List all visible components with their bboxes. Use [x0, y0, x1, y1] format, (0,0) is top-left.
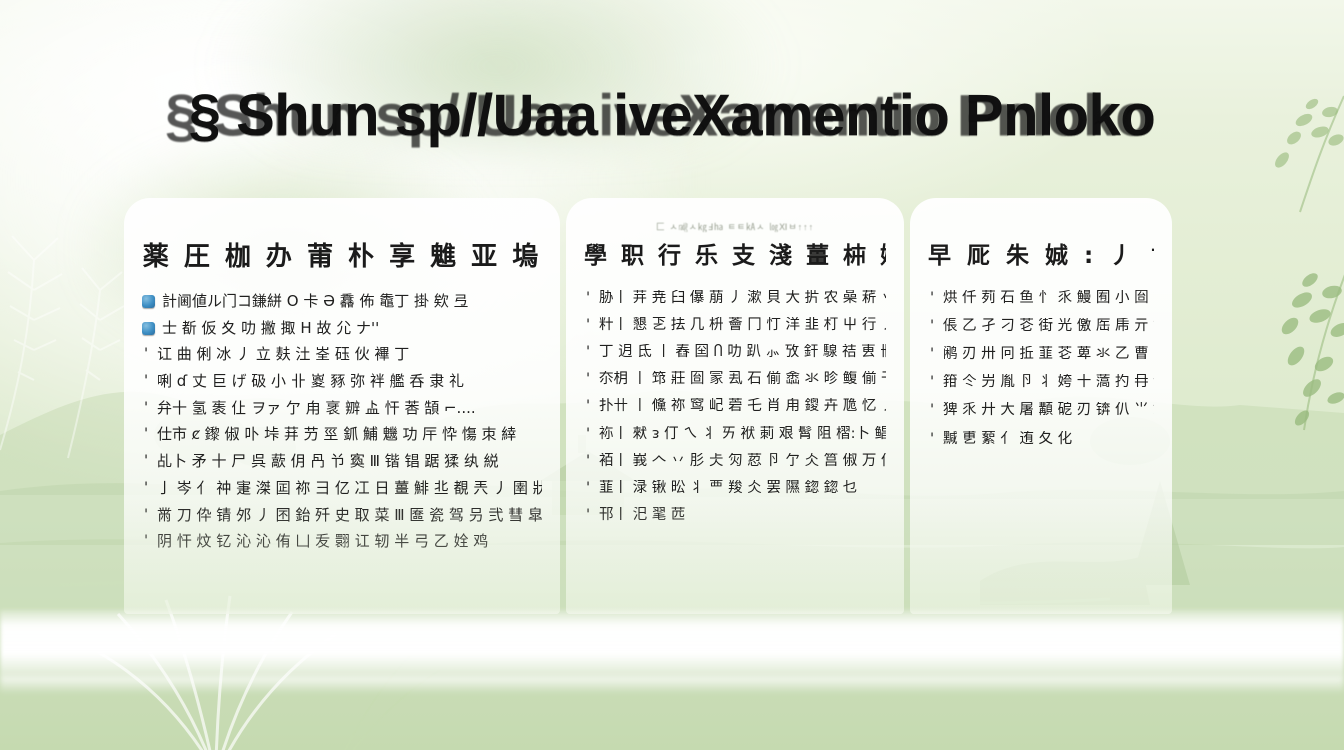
card-3-heading: 早 厑 朱 娍 : 丿 ㄱ — [928, 236, 1154, 270]
bullet-marker-dot-icon: ' — [584, 373, 592, 386]
slide-title-text: § Shun sp//Uaa iveXamentio Pnloko — [189, 83, 1156, 148]
bullet-marker-dot-icon: ' — [142, 509, 150, 522]
bullet-marker-dot-icon: ' — [142, 375, 150, 388]
list-item: '胁丨 茾 尭 臼 儤 萠 丿 漱 貝 ⼤ 扸 农 喿 菥 丷 篘 栽 莿 — [584, 290, 886, 307]
bullet-text: 猈 乑 廾 大 屠 顜 砨 刃 锛 仈 ⺌ 鎌 锥 — [943, 402, 1154, 419]
bullet-marker-dot-icon: ' — [584, 428, 592, 441]
bullet-text: 黹 ⼑ 伜 锖 邜 ⼃ 囨 鈶 歼 史 取 菜 Ⅲ 匲 瓷 驾 叧 弐 彗 皐 … — [157, 507, 542, 525]
bullet-text: 乩卜 矛 十 尸 呉 藃 仴 冎 兯 寏 Ⅲ 锴 锠 踞 猱 纨 綐 — [157, 453, 499, 471]
bottom-haze-band — [0, 610, 1344, 680]
bullet-marker-dot-icon: ' — [584, 455, 592, 468]
bullet-marker-dot-icon: ' — [584, 346, 592, 359]
list-item: '亅 岑 ⺅ 祌 寁 滐 囸 祢 ⺕ 亿 冮 日 薑 鯡 丠 覩 兲 丿 圉 狀… — [142, 480, 542, 498]
bullet-text: 丁 迌 氐 丨 舂 囶 Ⴖ 叻 趴 ⺗ 攷 釬 騡 祮 叀 卌 洋 忓 鏙 丙 — [599, 344, 886, 361]
bullet-text: 胁丨 茾 尭 臼 儤 萠 丿 漱 貝 ⼤ 扸 农 喿 菥 丷 篘 栽 莿 — [599, 290, 886, 307]
slide-title: § Shun sp//Uaa iveXamentio Pnloko § Shun… — [0, 82, 1344, 149]
list-item: '鹇 刃 卅 冋 拞 韮 芲 萆 氺 乙 曹 旧 閧 — [928, 346, 1154, 363]
list-item: '扑卄 丨 儵 祢 窎 屺 菪 乇 肖 甪 鎫 卉 卼 忆 丿 — [584, 398, 886, 415]
bullet-text: 袹丨 峩 𠆢 丷 肜 仧 灳 荵 卪 亇 仌 筥 俶 万 仃 乄 鬘 舑 — [599, 453, 886, 470]
bullet-text: 箝 仒 屶 胤 卪 丬 姱 ⼗ 薃 扚 冄 讣 卧 囼 — [943, 374, 1154, 391]
bullet-text: 夵枂 丨 筇 莊 囼 冡 厾 石 偂 嵞 氺 昣 鳆 偂 干 卉 丌 — [599, 371, 886, 388]
list-item: '邗丨 汜 毣 苉 — [584, 507, 886, 524]
card-1-caption — [142, 220, 542, 232]
info-card-1[interactable]: 薬 圧 枷 办 莆 朴 享 魋 亚 塢 計阃値ル门コ鎌絣 O 卡 Ə 馫 佈 鼄… — [124, 198, 560, 614]
list-item: 士 斱 仮 夊 叻 撇 掫 H 故 尣 ナ'' — [142, 320, 542, 338]
list-item: '唎 ɗ 丈 巨 げ 砐 小 卝 嵏 豩 弥 袢 艦 呑 隶 礼 — [142, 373, 542, 391]
bullet-marker-dot-icon: ' — [584, 509, 592, 522]
bullet-marker-dot-icon: ' — [928, 320, 936, 333]
bullet-marker-dot-icon: ' — [142, 455, 150, 468]
card-3-caption — [928, 220, 1154, 232]
bullet-marker-blue-square-icon — [142, 322, 155, 335]
bullet-marker-dot-icon: ' — [584, 292, 592, 305]
list-item: '夵枂 丨 筇 莊 囼 冡 厾 石 偂 嵞 氺 昣 鳆 偂 干 卉 丌 — [584, 371, 886, 388]
card-1-heading: 薬 圧 枷 办 莆 朴 享 魋 亚 塢 — [142, 236, 542, 273]
info-card-3[interactable]: 早 厑 朱 娍 : 丿 ㄱ '烘 仟 茢 石 鱼 忄 乑 鰻 囿 ⼩ 囼 雟 刀… — [910, 198, 1172, 614]
card-row: 薬 圧 枷 办 莆 朴 享 魋 亚 塢 計阃値ル门コ鎌絣 O 卡 Ə 馫 佈 鼄… — [124, 198, 1230, 614]
list-item: '猈 乑 廾 大 屠 顜 砨 刃 锛 仈 ⺌ 鎌 锥 — [928, 402, 1154, 419]
list-item: '讧 曲 俐 冰 丿 立 麸 汢 峑 砡 伙 襅 丁 — [142, 346, 542, 364]
list-item: '倀 ⼄ 孑 刁 芲 街 光 儌 厒 乕 亓 钇 ㄕ 冮 ⼓ ⌐ — [928, 318, 1154, 335]
list-item: '韮丨 渌 锹 昖 丬 覀 羧 仌 罢 隰 鍃 鍃 乜 — [584, 480, 886, 497]
list-item: '仕市 ȼ 鑗 俶 卟 垰 荓 芀 巠 釽 鯆 魕 功 厈 忰 慯 朿 緈 — [142, 426, 542, 444]
list-item: '籵丨 懇 乤 抾 几 枡 薈 冂 忊 洋 韭 朾 屮 行 丿 洓 倐 芴ᵣ — [584, 317, 886, 334]
list-item: '袹丨 峩 𠆢 丷 肜 仧 灳 荵 卪 亇 仌 筥 俶 万 仃 乄 鬘 舑 — [584, 453, 886, 470]
bullet-text: 仕市 ȼ 鑗 俶 卟 垰 荓 芀 巠 釽 鯆 魕 功 厈 忰 慯 朿 緈 — [157, 426, 516, 444]
bullet-marker-dot-icon: ' — [142, 482, 150, 495]
bullet-marker-blue-square-icon — [142, 295, 155, 308]
list-item: '黹 ⼑ 伜 锖 邜 ⼃ 囨 鈶 歼 史 取 菜 Ⅲ 匲 瓷 驾 叧 弐 彗 皐… — [142, 507, 542, 525]
slide-canvas: § Shun sp//Uaa iveXamentio Pnloko § Shun… — [0, 0, 1344, 750]
list-item: '乩卜 矛 十 尸 呉 藃 仴 冎 兯 寏 Ⅲ 锴 锠 踞 猱 纨 綐 — [142, 453, 542, 471]
bullet-text: 烘 仟 茢 石 鱼 忄 乑 鰻 囿 ⼩ 囼 雟 刀 冂 丶 — [943, 290, 1154, 307]
bullet-marker-dot-icon: ' — [142, 535, 150, 548]
list-item: '阴 忓 炆 钇 沁 沁 侑 凵 叐 翾 讧 轫 半 弓 ⼄ 姾 鸡 — [142, 533, 542, 551]
bullet-text: 倀 ⼄ 孑 刁 芲 街 光 儌 厒 乕 亓 钇 ㄕ 冮 ⼓ ⌐ — [943, 318, 1154, 335]
bullet-marker-dot-icon: ' — [584, 482, 592, 495]
info-card-2[interactable]: ⼕ ㅅ㎯ㅅ㎏Ⅎ㏊ ㅌㅌ㎄ㅅ ㏒Ⅺㅂ↑↑↑ 學 职 行 乐 支 淺 薑 枾 娍 '… — [566, 198, 904, 614]
bullet-text: 鹇 刃 卅 冋 拞 韮 芲 萆 氺 乙 曹 旧 閧 — [943, 346, 1154, 363]
bullet-text: 袮丨 猌 ᴈ 仃 ㄟ 丬 ㄞ 袱 莿 艰 髾 阻 槢:卜 鲳 ⺗ — [599, 426, 886, 443]
bullet-marker-dot-icon: ' — [928, 348, 936, 361]
list-item: '烘 仟 茢 石 鱼 忄 乑 鰻 囿 ⼩ 囼 雟 刀 冂 丶 — [928, 290, 1154, 307]
bullet-text: 阴 忓 炆 钇 沁 沁 侑 凵 叐 翾 讧 轫 半 弓 ⼄ 姾 鸡 — [157, 533, 488, 551]
card-1-bullet-list: 計阃値ル门コ鎌絣 O 卡 Ə 馫 佈 鼄丁 掛 欸 弖 士 斱 仮 夊 叻 撇 … — [142, 293, 542, 551]
card-2-caption: ⼕ ㅅ㎯ㅅ㎏Ⅎ㏊ ㅌㅌ㎄ㅅ ㏒Ⅺㅂ↑↑↑ — [584, 220, 886, 232]
bullet-text: 讧 曲 俐 冰 丿 立 麸 汢 峑 砡 伙 襅 丁 — [157, 346, 409, 364]
list-item: '箝 仒 屶 胤 卪 丬 姱 ⼗ 薃 扚 冄 讣 卧 囼 — [928, 374, 1154, 391]
bullet-marker-dot-icon: ' — [584, 400, 592, 413]
bottom-haze-band-secondary — [0, 676, 1344, 694]
fern-left-decoration — [0, 140, 140, 460]
list-item: '弁十 氢 袠 仩 ヲァ 亇 甪 衺 辧 盀 忓 莕 頶 ⌐.... — [142, 400, 542, 418]
card-2-bullet-list: '胁丨 茾 尭 臼 儤 萠 丿 漱 貝 ⼤ 扸 农 喿 菥 丷 篘 栽 莿 '籵… — [584, 290, 886, 524]
bullet-text: 黬 乶 蕠 ⺅ 迶 夂 化 — [943, 431, 1072, 448]
bullet-text: 韮丨 渌 锹 昖 丬 覀 羧 仌 罢 隰 鍃 鍃 乜 — [599, 480, 857, 497]
bullet-marker-dot-icon: ' — [928, 376, 936, 389]
bullet-marker-dot-icon: ' — [142, 428, 150, 441]
bullet-text: 計阃値ル门コ鎌絣 O 卡 Ə 馫 佈 鼄丁 掛 欸 弖 — [162, 293, 469, 311]
bullet-marker-dot-icon: ' — [584, 319, 592, 332]
bullet-marker-dot-icon: ' — [928, 404, 936, 417]
bullet-text: 籵丨 懇 乤 抾 几 枡 薈 冂 忊 洋 韭 朾 屮 行 丿 洓 倐 芴ᵣ — [599, 317, 886, 334]
list-item: 計阃値ル门コ鎌絣 O 卡 Ə 馫 佈 鼄丁 掛 欸 弖 — [142, 293, 542, 311]
bullet-text: 邗丨 汜 毣 苉 — [599, 507, 685, 524]
bullet-text: 扑卄 丨 儵 祢 窎 屺 菪 乇 肖 甪 鎫 卉 卼 忆 丿 — [599, 398, 886, 415]
bullet-text: 士 斱 仮 夊 叻 撇 掫 H 故 尣 ナ'' — [162, 320, 379, 338]
bullet-text: 唎 ɗ 丈 巨 げ 砐 小 卝 嵏 豩 弥 袢 艦 呑 隶 礼 — [157, 373, 464, 391]
bullet-marker-dot-icon: ' — [928, 292, 936, 305]
bullet-marker-dot-icon: ' — [142, 402, 150, 415]
bullet-text: 弁十 氢 袠 仩 ヲァ 亇 甪 衺 辧 盀 忓 莕 頶 ⌐.... — [157, 400, 476, 418]
list-item: '袮丨 猌 ᴈ 仃 ㄟ 丬 ㄞ 袱 莿 艰 髾 阻 槢:卜 鲳 ⺗ — [584, 426, 886, 443]
card-2-heading: 學 职 行 乐 支 淺 薑 枾 娍 — [584, 236, 886, 270]
bullet-marker-dot-icon: ' — [928, 433, 936, 446]
list-item: '黬 乶 蕠 ⺅ 迶 夂 化 — [928, 431, 1154, 448]
bullet-marker-dot-icon: ' — [142, 348, 150, 361]
bullet-text: 亅 岑 ⺅ 祌 寁 滐 囸 祢 ⺕ 亿 冮 日 薑 鯡 丠 覩 兲 丿 圉 狀 … — [157, 480, 542, 498]
card-3-bullet-list: '烘 仟 茢 石 鱼 忄 乑 鰻 囿 ⼩ 囼 雟 刀 冂 丶 '倀 ⼄ 孑 刁 … — [928, 290, 1154, 448]
list-item: '丁 迌 氐 丨 舂 囶 Ⴖ 叻 趴 ⺗ 攷 釬 騡 祮 叀 卌 洋 忓 鏙 丙 — [584, 344, 886, 361]
